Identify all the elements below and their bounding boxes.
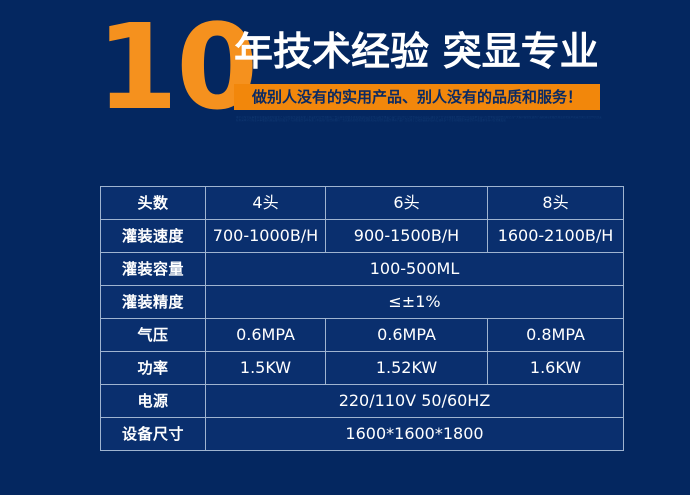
row-value: 8头: [488, 187, 624, 220]
row-value-merged: 220/110V 50/60HZ: [206, 385, 624, 418]
row-value: 6头: [326, 187, 488, 220]
row-value: 4头: [206, 187, 326, 220]
row-value: 1.5KW: [206, 352, 326, 385]
specification-table: 头数4头6头8头灌装速度700-1000B/H900-1500B/H1600-2…: [100, 186, 624, 451]
row-value-merged: ≤±1%: [206, 286, 624, 319]
row-value: 1.52KW: [326, 352, 488, 385]
row-value: 900-1500B/H: [326, 220, 488, 253]
row-label: 设备尺寸: [101, 418, 206, 451]
row-value: 0.6MPA: [326, 319, 488, 352]
subtitle-text: 做别人没有的实用产品、别人没有的品质和服务！: [252, 88, 582, 106]
row-value: 1.6KW: [488, 352, 624, 385]
row-label: 头数: [101, 187, 206, 220]
row-value: 700-1000B/H: [206, 220, 326, 253]
headline-text: 年技术经验 突显专业: [234, 28, 614, 78]
row-value: 0.8MPA: [488, 319, 624, 352]
years-number: 10: [96, 8, 236, 126]
table-row: 设备尺寸1600*1600*1800: [101, 418, 624, 451]
table-row: 电源220/110V 50/60HZ: [101, 385, 624, 418]
row-value-merged: 100-500ML: [206, 253, 624, 286]
row-value-merged: 1600*1600*1800: [206, 418, 624, 451]
row-label: 灌装速度: [101, 220, 206, 253]
table-row: 灌装精度≤±1%: [101, 286, 624, 319]
fine-print-text: 本公司专业从事灌装机械设备的研发生产与销售服务多年积累了丰富的行业经验拥有一支高…: [236, 116, 602, 138]
subtitle-banner: 做别人没有的实用产品、别人没有的品质和服务！: [234, 84, 600, 110]
row-label: 电源: [101, 385, 206, 418]
table-row: 头数4头6头8头: [101, 187, 624, 220]
row-label: 功率: [101, 352, 206, 385]
specification-table-body: 头数4头6头8头灌装速度700-1000B/H900-1500B/H1600-2…: [101, 187, 624, 451]
row-label: 灌装容量: [101, 253, 206, 286]
table-row: 灌装容量100-500ML: [101, 253, 624, 286]
row-label: 气压: [101, 319, 206, 352]
header-banner: 10 年技术经验 突显专业 做别人没有的实用产品、别人没有的品质和服务！ 本公司…: [0, 0, 690, 160]
row-value: 0.6MPA: [206, 319, 326, 352]
row-label: 灌装精度: [101, 286, 206, 319]
table-row: 气压0.6MPA0.6MPA0.8MPA: [101, 319, 624, 352]
table-row: 功率1.5KW1.52KW1.6KW: [101, 352, 624, 385]
table-row: 灌装速度700-1000B/H900-1500B/H1600-2100B/H: [101, 220, 624, 253]
promo-banner-page: 10 年技术经验 突显专业 做别人没有的实用产品、别人没有的品质和服务！ 本公司…: [0, 0, 690, 495]
row-value: 1600-2100B/H: [488, 220, 624, 253]
